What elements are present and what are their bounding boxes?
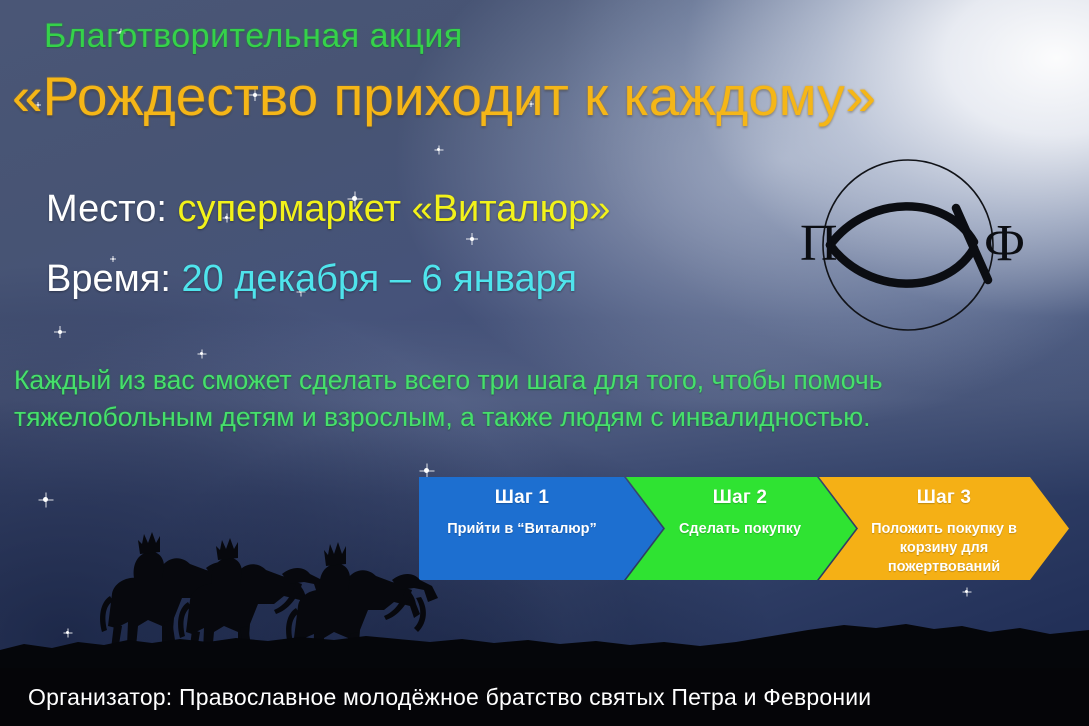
step-2-title: Шаг 2 [654,487,826,509]
body-line-1: Каждый из вас сможет сделать всего три ш… [14,362,1024,399]
time-value: 20 декабря – 6 января [181,258,576,300]
brotherhood-logo: П Ф [788,150,1028,340]
poster-canvas: Благотворительная акция «Рождество прихо… [0,0,1089,726]
time-label: Время: [46,258,171,300]
logo-letter-left: П [800,215,838,272]
step-3-title: Шаг 3 [849,487,1039,509]
logo-letter-right: Ф [984,215,1025,272]
body-paragraph: Каждый из вас сможет сделать всего три ш… [14,362,1024,436]
step-3-arrow[interactable]: Шаг 3 Положить покупку в корзину для пож… [819,477,1069,580]
place-line: Место: супермаркет «Виталюр» [46,188,610,231]
step-3-description: Положить покупку в корзину для пожертвов… [849,520,1039,577]
steps-flow: Шаг 1 Прийти в “Виталюр” Шаг 2 Сделать п… [419,477,1069,580]
logo-circle-icon [823,160,993,330]
kicker-text: Благотворительная акция [44,17,463,56]
step-2-description: Сделать покупку [654,520,826,539]
place-label: Место: [46,188,167,230]
ichthys-fish-icon [830,206,988,283]
body-line-2: тяжелобольным детям и взрослым, а также … [14,399,1024,436]
organizer-text: Организатор: Православное молодёжное бра… [28,684,871,711]
time-line: Время: 20 декабря – 6 января [46,258,577,301]
page-title: «Рождество приходит к каждому» [12,64,876,128]
place-value: супермаркет «Виталюр» [177,188,610,230]
